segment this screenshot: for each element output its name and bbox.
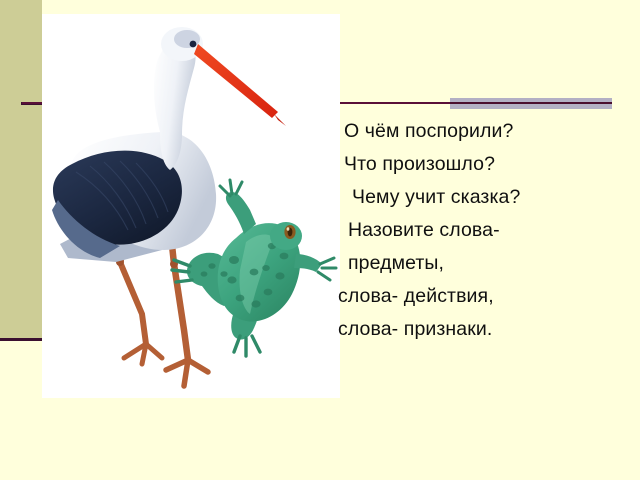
frog-right-hand [318, 258, 336, 280]
text-line: слова- действия, [338, 280, 634, 313]
left-band-tick-mark [21, 102, 43, 105]
text-line: О чём поспорили? [338, 115, 634, 148]
text-line: слова- признаки. [338, 313, 634, 346]
left-band-bottom-rule [0, 338, 42, 341]
frog-foreleg-left [226, 192, 256, 234]
frog-left-hand [220, 180, 242, 196]
frog-eye-glint [287, 227, 290, 231]
illustration-frame [42, 14, 340, 398]
text-line: предметы, [338, 247, 634, 280]
rule-gray-bar [450, 98, 612, 109]
frog-right-foot [234, 336, 260, 356]
question-text-block: О чём поспорили? Что произошло? Чему учи… [338, 115, 634, 346]
stork-beak [194, 44, 278, 118]
text-line: Чему учит сказка? [338, 181, 634, 214]
stork-beak-tip [274, 114, 286, 126]
text-line: Назовите слова- [338, 214, 634, 247]
text-line: Что произошло? [338, 148, 634, 181]
stork-eye [190, 41, 197, 48]
rule-thin-line-overlay [450, 102, 612, 104]
slide-canvas: О чём поспорили? Что произошло? Чему учи… [0, 0, 640, 480]
stork-and-frog-illustration [42, 14, 340, 398]
left-accent-band [0, 0, 42, 338]
